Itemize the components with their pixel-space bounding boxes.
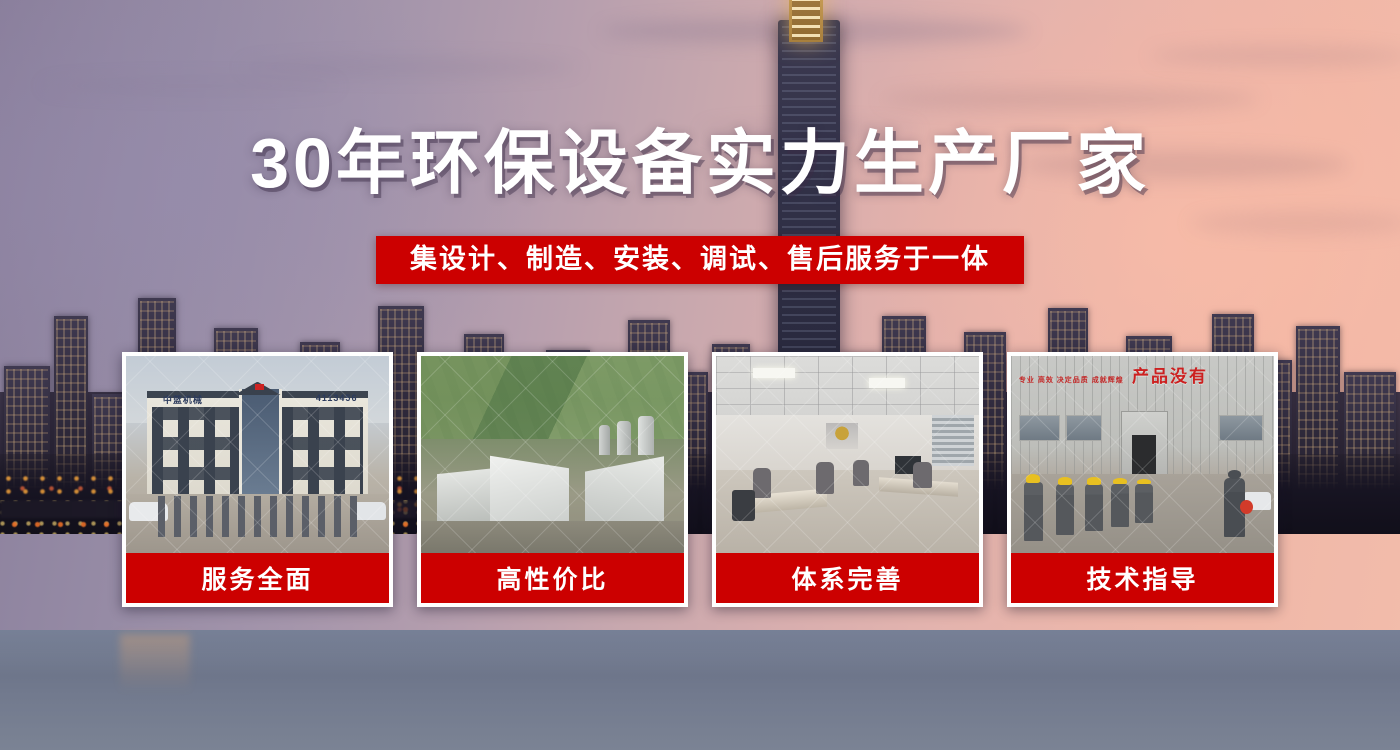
- photo-chair: [732, 490, 756, 522]
- cloud: [240, 58, 580, 76]
- photo-building-atrium: [239, 389, 282, 503]
- feature-card[interactable]: 中蓝机械 4113456 服务全面: [122, 352, 393, 607]
- photo-worker: [1085, 484, 1103, 531]
- photo-workshop-window: [1066, 415, 1102, 441]
- subtitle-badge: 集设计、制造、安装、调试、售后服务于一体: [376, 236, 1024, 284]
- photo-plant-road: [421, 521, 684, 553]
- feature-card[interactable]: 体系完善: [712, 352, 983, 607]
- card-label: 体系完善: [716, 553, 979, 603]
- river-surface-highlight: [0, 630, 1400, 676]
- plant-photo: [421, 356, 684, 553]
- photo-company-sign: 中蓝机械: [163, 393, 203, 406]
- card-photo-office: [716, 356, 979, 553]
- photo-staff-row: [158, 496, 363, 537]
- photo-workshop-doorway: [1132, 435, 1156, 474]
- photo-window-blinds: [932, 415, 974, 466]
- subtitle-container: 集设计、制造、安装、调试、售后服务于一体: [0, 236, 1400, 284]
- cloud: [1150, 46, 1400, 66]
- river-light-reflection: [120, 634, 190, 692]
- photo-office-worker: [913, 462, 931, 488]
- workshop-photo: 产品没有 专业 高效 决定品质 成就辉煌: [1011, 356, 1274, 553]
- cloud: [880, 88, 1260, 110]
- photo-workshop-window: [1219, 415, 1263, 441]
- photo-wall-emblem: [826, 423, 858, 449]
- tower-illuminated-crown: [789, 0, 823, 42]
- photo-worker: [1056, 484, 1074, 535]
- card-photo-workshop: 产品没有 专业 高效 决定品质 成就辉煌: [1011, 356, 1274, 553]
- card-label: 高性价比: [421, 553, 684, 603]
- page-title: 30年环保设备实力生产厂家: [0, 128, 1400, 198]
- photo-worker: [1111, 484, 1129, 527]
- building-photo: 中蓝机械 4113456: [126, 356, 389, 553]
- photo-office-worker: [753, 468, 771, 498]
- photo-red-helmet: [1240, 500, 1253, 514]
- photo-office-worker: [816, 462, 834, 494]
- card-photo-plant: [421, 356, 684, 553]
- photo-office-worker: [853, 460, 869, 486]
- photo-ceiling: [716, 356, 979, 415]
- photo-worker: [1024, 482, 1042, 541]
- cloud: [40, 78, 340, 94]
- photo-workshop-headline: 产品没有: [1132, 362, 1208, 387]
- photo-phone-sign: 4113456: [316, 393, 358, 403]
- photo-plant-structures: [437, 423, 668, 537]
- photo-workshop-window: [1019, 415, 1060, 441]
- card-label: 服务全面: [126, 553, 389, 603]
- promotional-banner: 30年环保设备实力生产厂家 集设计、制造、安装、调试、售后服务于一体 中蓝机械 …: [0, 0, 1400, 750]
- card-label: 技术指导: [1011, 553, 1274, 603]
- river: [0, 630, 1400, 750]
- office-photo: [716, 356, 979, 553]
- photo-ceiling-light: [753, 368, 795, 378]
- feature-card-list: 中蓝机械 4113456 服务全面: [122, 352, 1278, 607]
- photo-worker: [1135, 484, 1153, 523]
- photo-silo: [599, 425, 611, 455]
- photo-flag: [255, 384, 264, 390]
- feature-card[interactable]: 产品没有 专业 高效 决定品质 成就辉煌: [1007, 352, 1278, 607]
- photo-ceiling-light: [869, 378, 906, 388]
- photo-workshop-slogan: 专业 高效 决定品质 成就辉煌: [1019, 376, 1124, 387]
- card-photo-headquarters: 中蓝机械 4113456: [126, 356, 389, 553]
- photo-silo: [617, 421, 631, 455]
- photo-silo: [638, 416, 654, 455]
- feature-card[interactable]: 高性价比: [417, 352, 688, 607]
